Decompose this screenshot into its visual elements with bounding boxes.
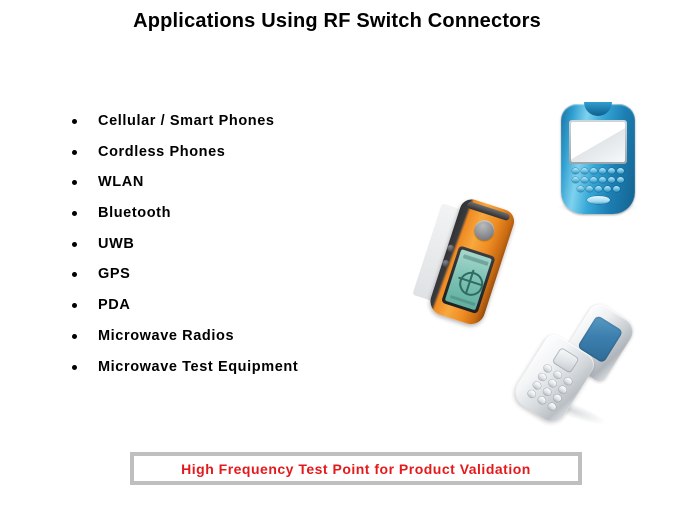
blue-smartphone-image xyxy=(561,104,635,220)
callout-banner: High Frequency Test Point for Product Va… xyxy=(130,452,582,485)
key xyxy=(581,177,588,183)
keypad-row xyxy=(569,186,627,193)
list-item: UWB xyxy=(72,229,452,260)
applications-bullet-list: Cellular / Smart Phones Cordless Phones … xyxy=(72,106,452,382)
keypad-row xyxy=(569,168,627,175)
key xyxy=(617,168,624,174)
smartphone-screen-frame xyxy=(569,120,627,164)
key xyxy=(586,186,593,192)
bullet-dot-icon xyxy=(72,119,77,124)
smartphone-space-key xyxy=(587,196,610,204)
smartphone-qwerty-keypad xyxy=(569,168,627,206)
bullet-dot-icon xyxy=(72,334,77,339)
list-item-label: UWB xyxy=(98,229,134,260)
bullet-dot-icon xyxy=(72,365,77,370)
list-item-label: WLAN xyxy=(98,167,144,198)
key xyxy=(613,186,620,192)
gps-screen-status-bar xyxy=(450,295,476,306)
list-item-label: Cellular / Smart Phones xyxy=(98,106,275,137)
list-item: Bluetooth xyxy=(72,198,452,229)
list-item-label: Bluetooth xyxy=(98,198,171,229)
gps-side-button xyxy=(446,244,455,253)
callout-banner-text: High Frequency Test Point for Product Va… xyxy=(181,461,531,477)
key xyxy=(577,186,584,192)
compass-icon xyxy=(456,269,486,299)
slide-canvas: Applications Using RF Switch Connectors … xyxy=(0,0,674,506)
bullet-dot-icon xyxy=(72,150,77,155)
list-item: Cellular / Smart Phones xyxy=(72,106,452,137)
key xyxy=(599,177,606,183)
key xyxy=(595,186,602,192)
key xyxy=(572,177,579,183)
bullet-dot-icon xyxy=(72,211,77,216)
gps-round-button xyxy=(472,218,497,243)
key xyxy=(563,376,573,386)
keypad-row xyxy=(569,177,627,184)
key xyxy=(590,168,597,174)
bullet-dot-icon xyxy=(72,272,77,277)
gps-side-button xyxy=(441,259,450,268)
key xyxy=(581,168,588,174)
bullet-dot-icon xyxy=(72,242,77,247)
key xyxy=(542,363,552,373)
list-item-label: Microwave Radios xyxy=(98,321,234,352)
key xyxy=(604,186,611,192)
gps-screen-title-bar xyxy=(463,254,489,266)
list-item: GPS xyxy=(72,259,452,290)
smartphone-top-notch xyxy=(584,102,612,116)
list-item: PDA xyxy=(72,290,452,321)
page-title: Applications Using RF Switch Connectors xyxy=(0,10,674,33)
list-item-label: GPS xyxy=(98,259,130,290)
list-item: Microwave Radios xyxy=(72,321,452,352)
key xyxy=(590,177,597,183)
orange-gps-image xyxy=(424,198,528,332)
key xyxy=(553,370,563,380)
list-item: Microwave Test Equipment xyxy=(72,352,452,383)
list-item-label: Cordless Phones xyxy=(98,137,225,168)
key xyxy=(617,177,624,183)
bullet-dot-icon xyxy=(72,303,77,308)
key xyxy=(572,168,579,174)
smartphone-screen xyxy=(571,122,625,162)
silver-flip-phone-image xyxy=(522,306,644,424)
list-item-label: Microwave Test Equipment xyxy=(98,352,298,383)
key xyxy=(608,177,615,183)
list-item: Cordless Phones xyxy=(72,137,452,168)
bullet-dot-icon xyxy=(72,180,77,185)
list-item-label: PDA xyxy=(98,290,130,321)
gps-screen xyxy=(445,249,492,310)
gps-top-strip xyxy=(467,201,511,221)
list-item: WLAN xyxy=(72,167,452,198)
smartphone-body xyxy=(561,104,635,214)
key xyxy=(608,168,615,174)
gps-screen-frame xyxy=(441,245,496,314)
key xyxy=(599,168,606,174)
